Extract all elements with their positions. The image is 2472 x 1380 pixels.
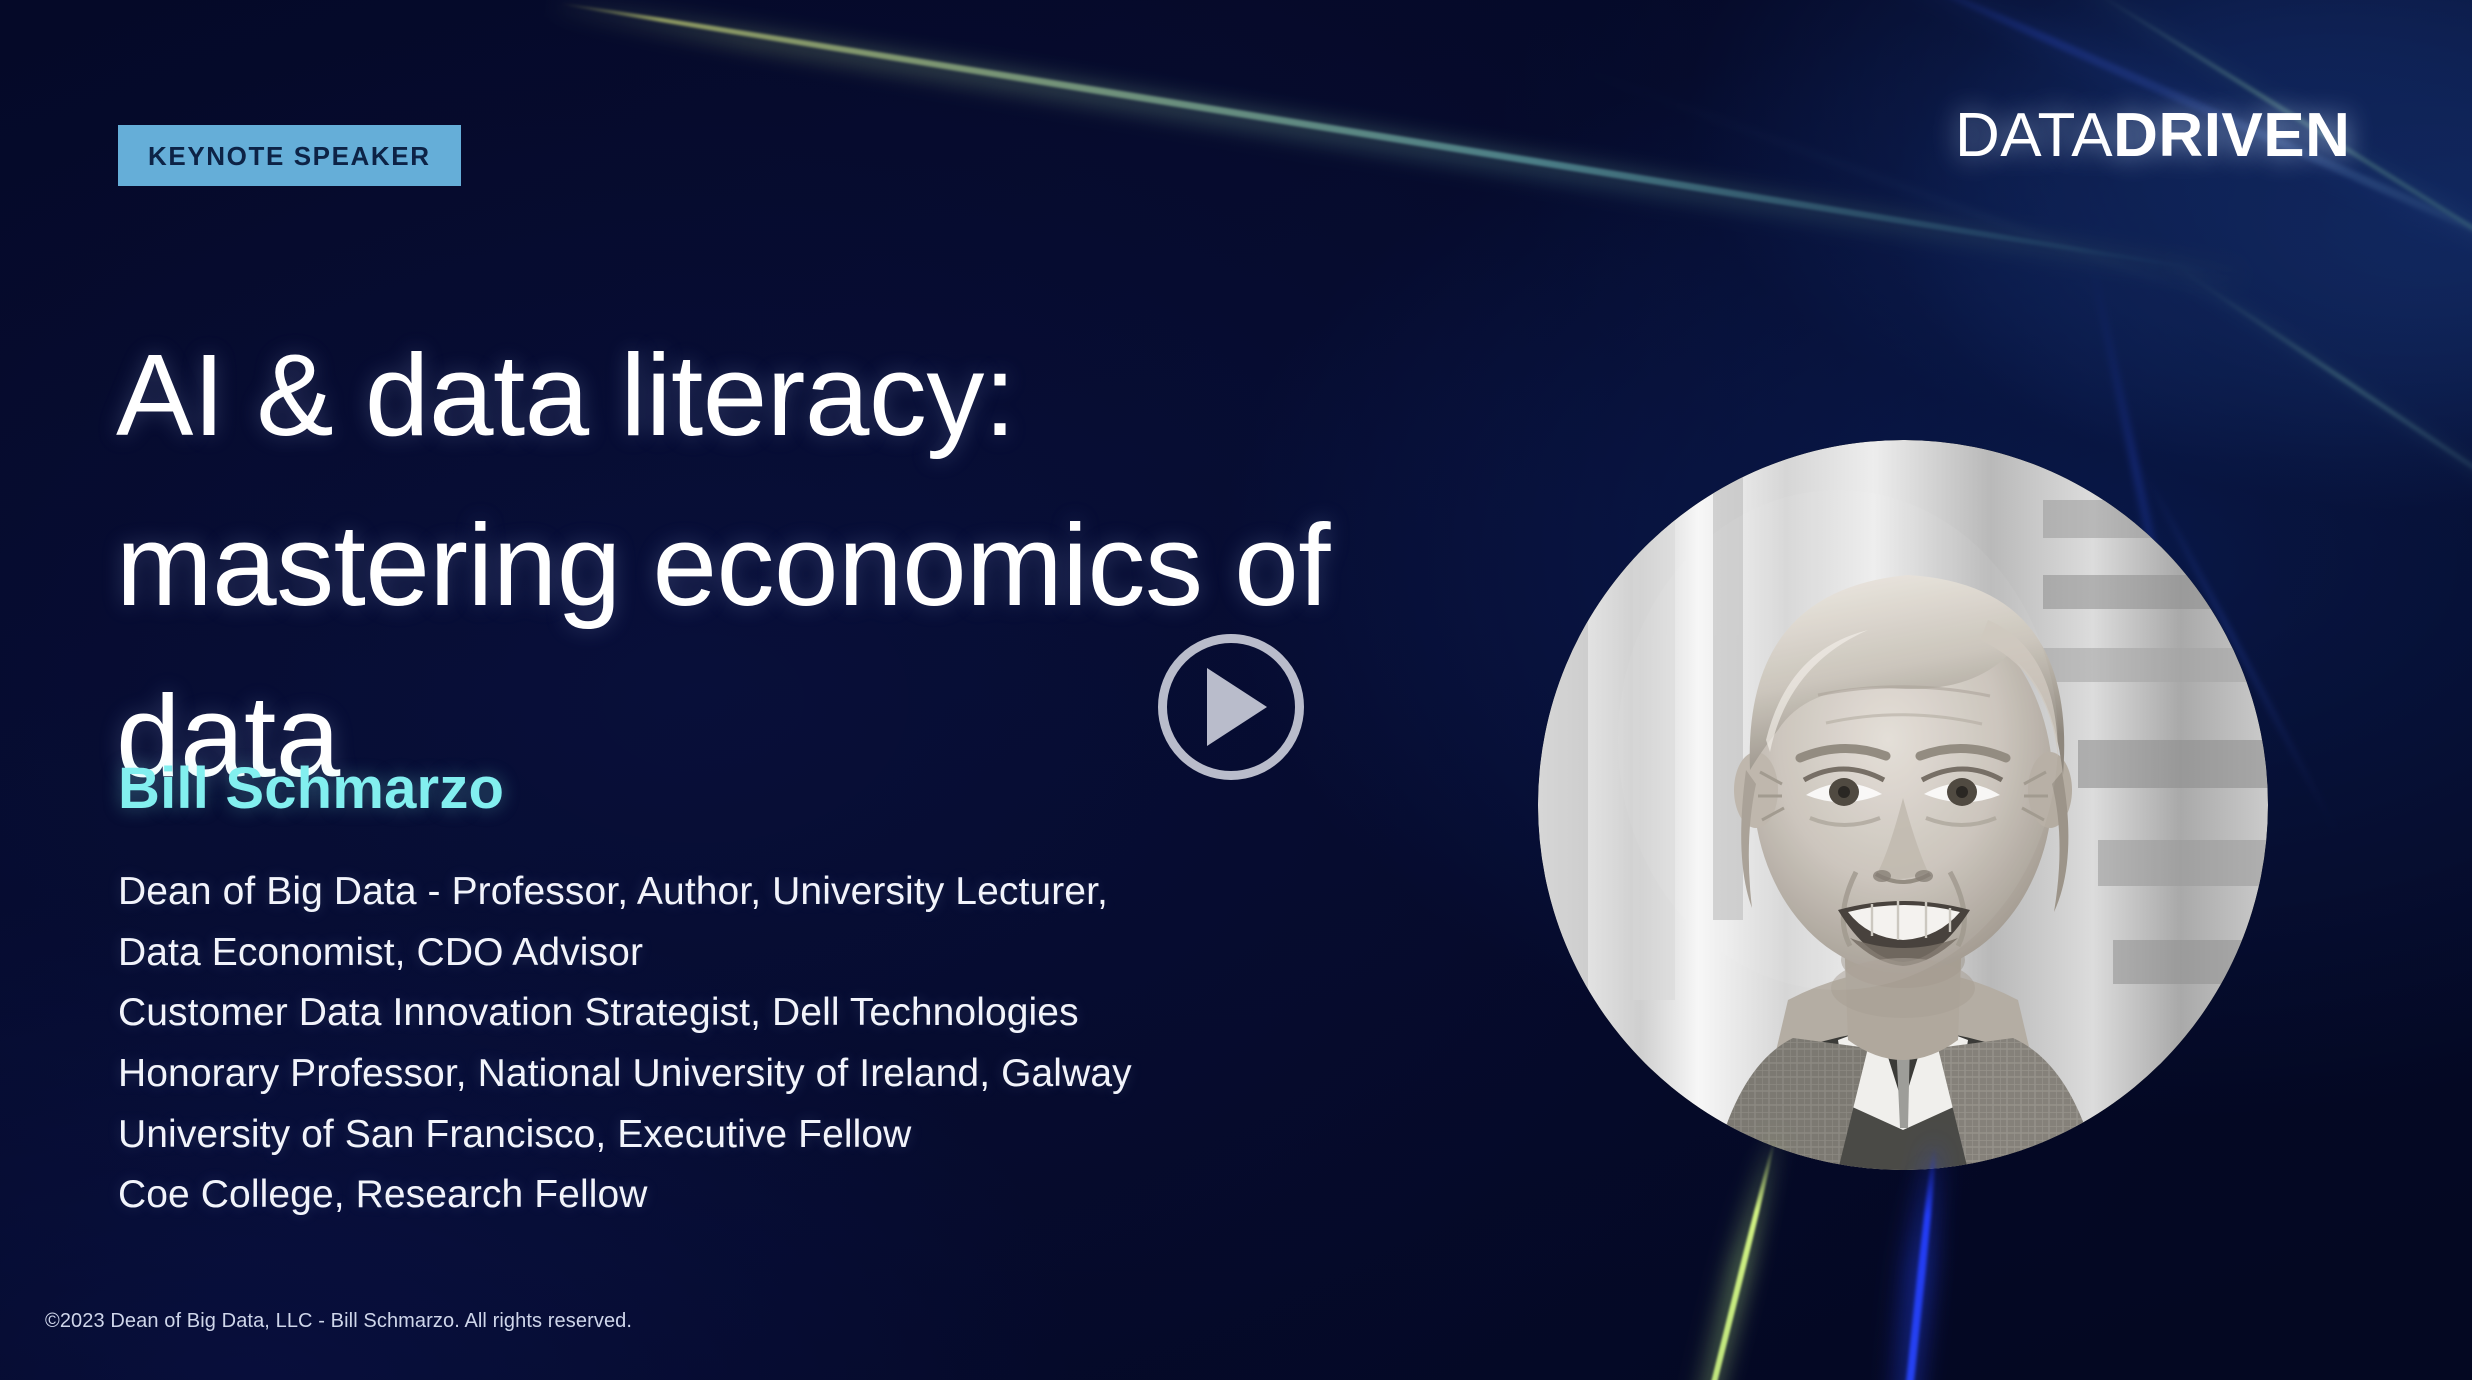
logo-text-driven: DRIVEN — [2113, 101, 2350, 170]
speaker-portrait — [1538, 440, 2268, 1170]
bio-line: Coe College, Research Fellow — [118, 1165, 1458, 1226]
bio-line: Data Economist, CDO Advisor — [118, 923, 1458, 984]
bio-line: Customer Data Innovation Strategist, Del… — [118, 983, 1458, 1044]
keynote-speaker-slide: DATADRIVEN — [0, 0, 2472, 1380]
logo-text-data: DATA — [1955, 101, 2113, 170]
speaker-bio: Dean of Big Data - Professor, Author, Un… — [118, 862, 1458, 1226]
bio-line: University of San Francisco, Executive F… — [118, 1105, 1458, 1166]
play-button[interactable] — [1158, 634, 1304, 780]
keynote-speaker-badge: KEYNOTE SPEAKER — [118, 125, 461, 186]
speaker-name: Bill Schmarzo — [118, 755, 504, 822]
copyright-notice: ©2023 Dean of Big Data, LLC - Bill Schma… — [45, 1310, 632, 1333]
play-icon — [1207, 668, 1267, 746]
bio-line: Honorary Professor, National University … — [118, 1044, 1458, 1105]
bio-line: Dean of Big Data - Professor, Author, Un… — [118, 862, 1458, 923]
datadriven-logo: DATADRIVEN — [1955, 100, 2350, 171]
